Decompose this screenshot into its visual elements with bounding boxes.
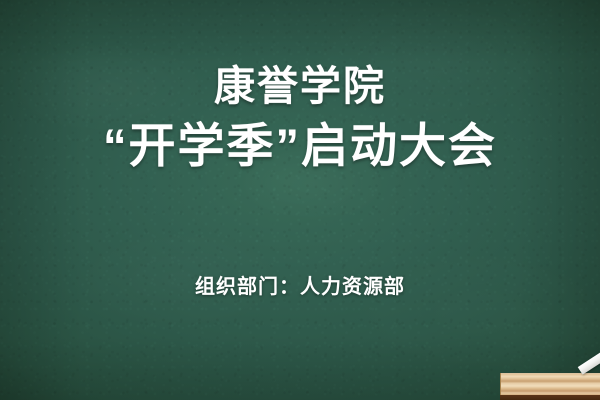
title-slide: 康誉学院 “开学季”启动大会 组织部门：人力资源部 [0, 0, 600, 400]
chalk-ledge-base-strip [500, 395, 600, 400]
slide-title: 康誉学院 “开学季”启动大会 [0, 62, 600, 174]
slide-subtitle: 组织部门：人力资源部 [195, 270, 405, 299]
chalk-ledge-icon [500, 373, 600, 400]
slide-content: 康誉学院 “开学季”启动大会 组织部门：人力资源部 [0, 0, 600, 400]
title-line-2: “开学季”启动大会 [0, 118, 600, 173]
title-line-1: 康誉学院 [0, 62, 600, 110]
chalk-ledge-wood-body [500, 373, 600, 395]
